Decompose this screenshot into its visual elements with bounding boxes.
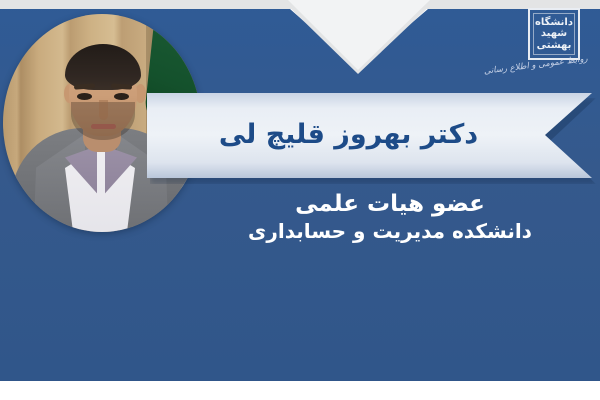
person-mouth [91,124,116,129]
person-nose [99,100,108,120]
university-seal-label: دانشگاه شهید بهشتی [535,17,573,51]
subtitle-block: عضو هیات علمی دانشکده مدیریت و حسابداری [210,190,570,245]
subtitle-role: عضو هیات علمی [210,190,570,219]
name-ribbon: دکتر بهروز قلیچ لی [147,93,592,178]
person-eye-left [77,93,92,100]
page-title: دکتر بهروز قلیچ لی [219,119,478,150]
person-eye-right [114,93,129,100]
person-hair [65,44,141,90]
university-seal-icon: دانشگاه شهید بهشتی [528,8,580,60]
profile-poster: دکتر بهروز قلیچ لی عضو هیات علمی دانشکده… [0,0,600,400]
subtitle-faculty: دانشکده مدیریت و حسابداری [210,219,570,245]
university-seal-inner-frame: دانشگاه شهید بهشتی [533,13,575,55]
university-logo: دانشگاه شهید بهشتی روابط عمومی و اطلاع ر… [488,6,592,88]
